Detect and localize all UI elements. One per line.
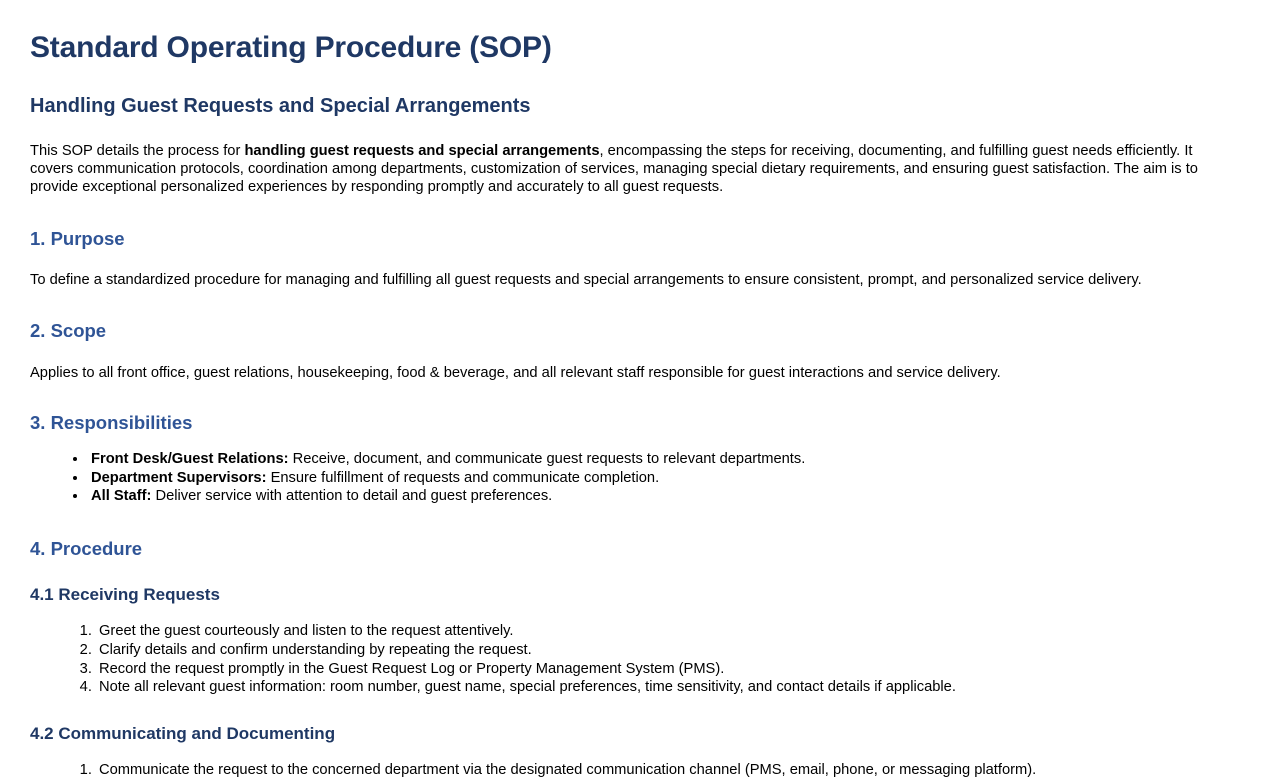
document-subtitle: Handling Guest Requests and Special Arra…	[30, 66, 1233, 118]
list-item: Note all relevant guest information: roo…	[96, 678, 1233, 697]
section-heading-procedure: 4. Procedure	[30, 506, 1233, 560]
responsibility-role: Front Desk/Guest Relations:	[91, 451, 289, 467]
intro-bold-phrase: handling guest requests and special arra…	[244, 143, 599, 159]
intro-text-before-bold: This SOP details the process for	[30, 143, 244, 159]
list-item: Clarify details and confirm understandin…	[96, 641, 1233, 660]
section-body-purpose: To define a standardized procedure for m…	[30, 250, 1190, 289]
responsibility-role: All Staff:	[91, 488, 151, 504]
procedure-list-communicating-documenting: Communicate the request to the concerned…	[30, 744, 1233, 780]
procedure-list-receiving-requests: Greet the guest courteously and listen t…	[30, 605, 1233, 696]
list-item: Front Desk/Guest Relations: Receive, doc…	[88, 450, 1233, 469]
list-item: Greet the guest courteously and listen t…	[96, 622, 1233, 641]
subsection-heading-communicating-documenting: 4.2 Communicating and Documenting	[30, 697, 1233, 744]
list-item: Department Supervisors: Ensure fulfillme…	[88, 469, 1233, 488]
list-item: Record the request promptly in the Guest…	[96, 660, 1233, 679]
intro-paragraph: This SOP details the process for handlin…	[30, 118, 1215, 197]
subsection-heading-receiving-requests: 4.1 Receiving Requests	[30, 560, 1233, 605]
section-heading-responsibilities: 3. Responsibilities	[30, 382, 1233, 434]
section-heading-scope: 2. Scope	[30, 290, 1233, 342]
list-item: All Staff: Deliver service with attentio…	[88, 487, 1233, 506]
document-page: Standard Operating Procedure (SOP) Handl…	[0, 0, 1263, 780]
responsibilities-list: Front Desk/Guest Relations: Receive, doc…	[30, 434, 1233, 506]
responsibility-role: Department Supervisors:	[91, 470, 266, 486]
section-body-scope: Applies to all front office, guest relat…	[30, 342, 1233, 382]
responsibility-detail: Receive, document, and communicate guest…	[289, 451, 806, 467]
responsibility-detail: Deliver service with attention to detail…	[151, 488, 552, 504]
responsibility-detail: Ensure fulfillment of requests and commu…	[266, 470, 659, 486]
page-title: Standard Operating Procedure (SOP)	[30, 0, 1233, 66]
section-heading-purpose: 1. Purpose	[30, 196, 1233, 250]
list-item: Communicate the request to the concerned…	[96, 761, 1233, 780]
